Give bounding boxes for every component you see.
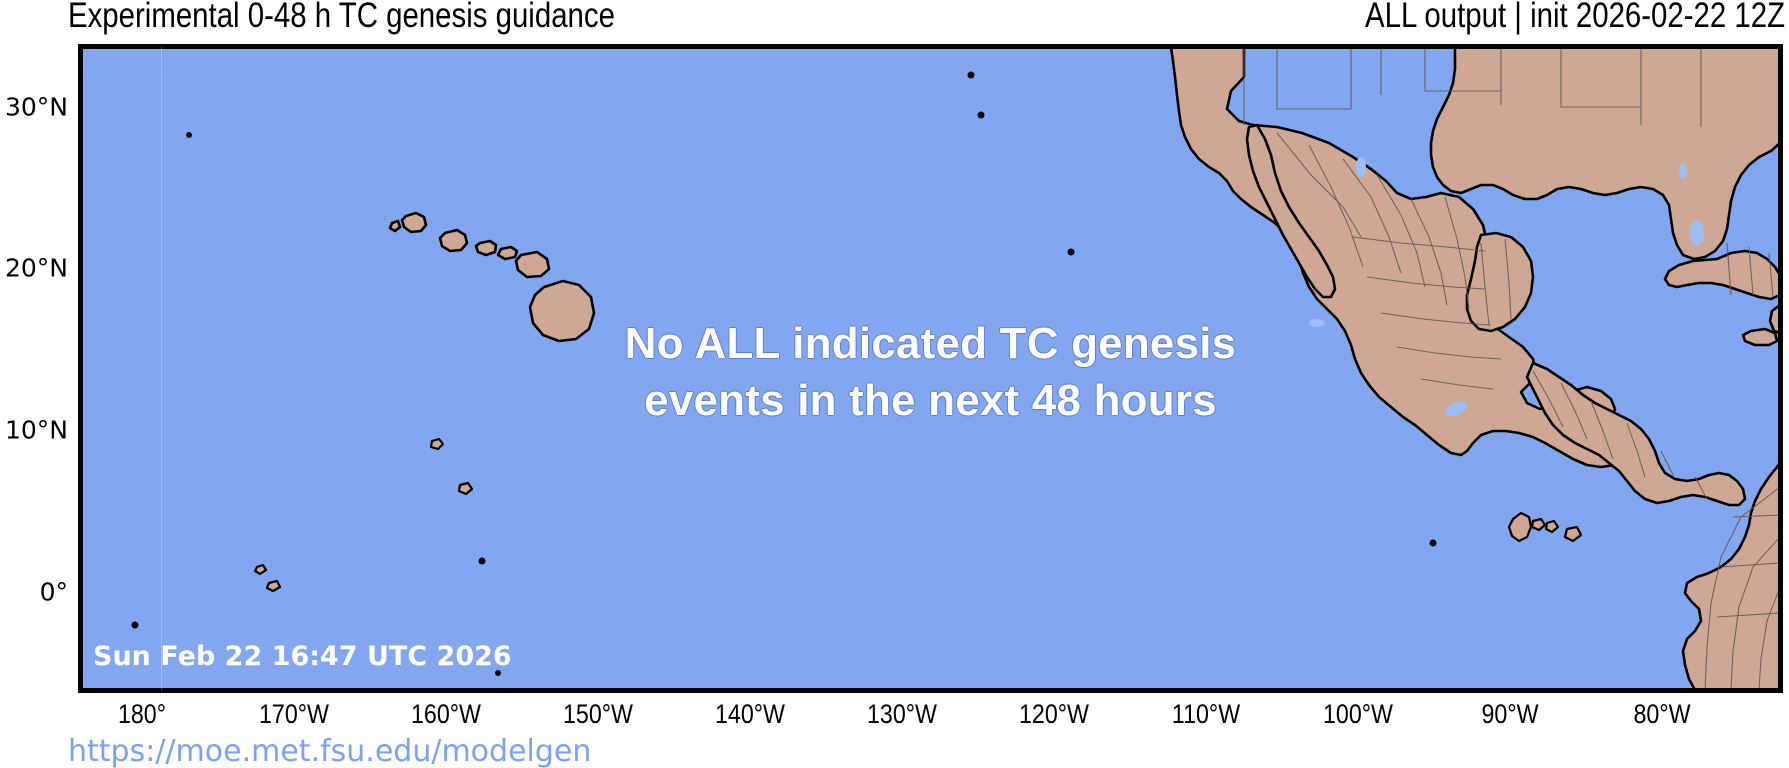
x-tick-160w: 160°W <box>411 699 481 730</box>
basemap-svg <box>81 47 1780 690</box>
y-tick-0: 0° <box>40 578 68 607</box>
x-tick-150w: 150°W <box>563 699 633 730</box>
x-tick-100w: 100°W <box>1323 699 1393 730</box>
tc-genesis-map-page: Experimental 0-48 h TC genesis guidance … <box>0 0 1789 768</box>
x-tick-120w: 120°W <box>1019 699 1089 730</box>
timestamp-label: Sun Feb 22 16:47 UTC 2026 <box>93 641 512 672</box>
source-url-link[interactable]: https://moe.met.fsu.edu/modelgen <box>68 734 591 768</box>
y-tick-20n: 20°N <box>5 254 68 283</box>
x-tick-90w: 90°W <box>1481 699 1538 730</box>
y-tick-30n: 30°N <box>5 93 68 122</box>
x-tick-130w: 130°W <box>867 699 937 730</box>
header-output-init-label: ALL output | init 2026-02-22 12Z <box>1365 0 1785 36</box>
x-tick-110w: 110°W <box>1172 699 1240 730</box>
x-tick-180: 180° <box>118 699 166 730</box>
gridline-180 <box>161 47 162 690</box>
page-title: Experimental 0-48 h TC genesis guidance <box>68 0 615 36</box>
header: Experimental 0-48 h TC genesis guidance … <box>0 0 1789 42</box>
y-tick-10n: 10°N <box>5 416 68 445</box>
x-tick-170w: 170°W <box>259 699 329 730</box>
x-tick-80w: 80°W <box>1633 699 1690 730</box>
jamaica-landmass <box>1743 329 1777 345</box>
map-plot-area[interactable]: No ALL indicated TC genesis events in th… <box>78 44 1783 693</box>
x-tick-140w: 140°W <box>715 699 785 730</box>
